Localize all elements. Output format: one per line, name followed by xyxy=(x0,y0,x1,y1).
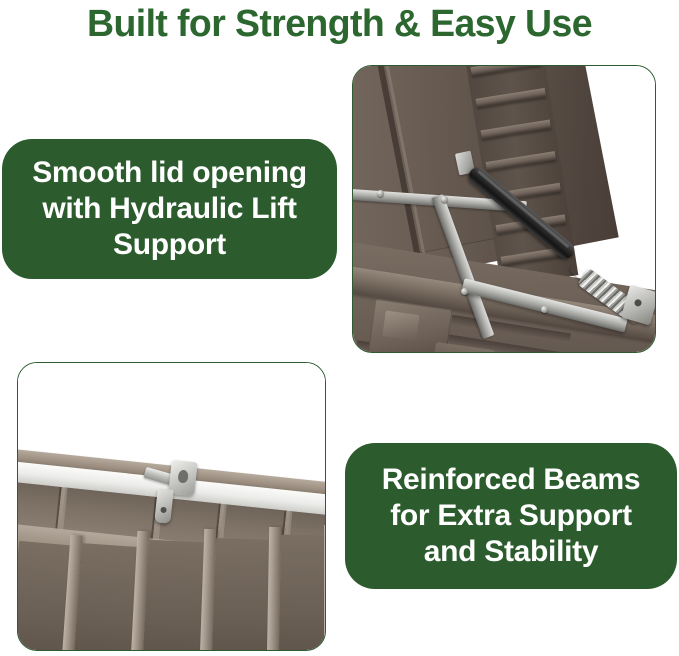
callout-hydraulic-lift: Smooth lid opening with Hydraulic Lift S… xyxy=(2,139,337,279)
page-title: Built for Strength & Easy Use xyxy=(5,2,674,46)
lid-rib xyxy=(481,120,552,140)
latch-recess xyxy=(382,310,419,340)
callout-reinforced-beams-text: Reinforced Beams for Extra Support and S… xyxy=(345,462,677,570)
hinge-pin xyxy=(541,306,548,313)
photo-upper-background xyxy=(18,363,325,459)
beam-channel xyxy=(279,535,325,650)
infographic-canvas: Built for Strength & Easy Use xyxy=(0,0,679,656)
lid-rib xyxy=(486,151,557,171)
hinge-pin xyxy=(461,288,468,295)
hinge-pin xyxy=(377,190,384,197)
beams-photo-scene xyxy=(18,363,325,650)
lid-rib xyxy=(476,88,547,108)
hinge-pin xyxy=(441,196,448,203)
beam-channel xyxy=(74,543,140,650)
beams-photo xyxy=(17,362,326,651)
lid-rib xyxy=(471,66,542,76)
hinge-photo xyxy=(352,65,656,353)
callout-hydraulic-lift-text: Smooth lid opening with Hydraulic Lift S… xyxy=(2,155,337,263)
reinforcing-beam xyxy=(324,525,325,650)
beam-channel xyxy=(143,540,207,650)
callout-reinforced-beams: Reinforced Beams for Extra Support and S… xyxy=(345,443,677,589)
beam-channel xyxy=(212,538,272,650)
hinge-photo-scene xyxy=(353,66,655,352)
